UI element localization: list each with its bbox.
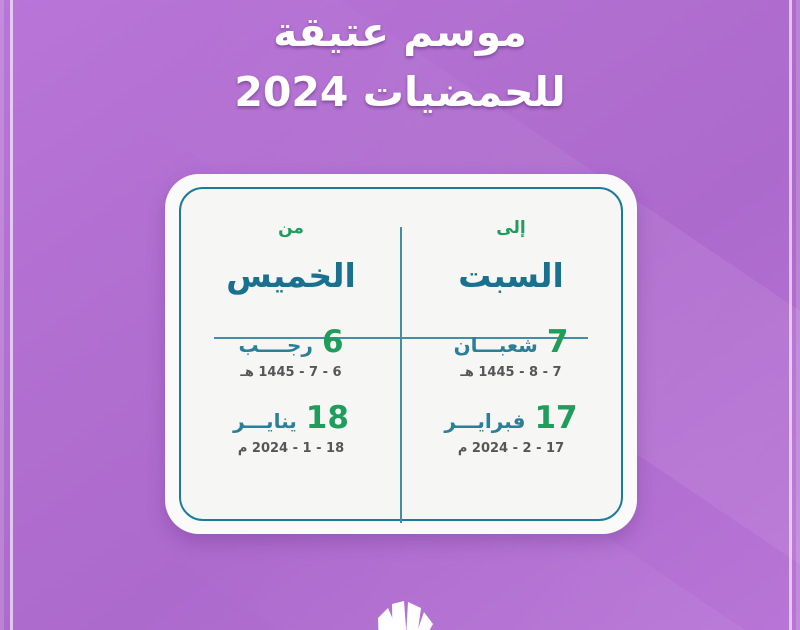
date-columns: من الخميس 6 رجــــب 6 - 7 - 1445 هـ 18 ي…: [181, 189, 621, 519]
page-title: موسم عتيقة للحمضيات 2024: [0, 0, 800, 122]
fan-petals-logo-icon: [348, 584, 452, 630]
hijri-date-main-to: 7 شعبـــان: [401, 325, 621, 360]
hijri-month-name-to: شعبـــان: [454, 330, 538, 360]
gregorian-month-name-to: فبرايـــر: [444, 406, 525, 436]
column-label-from: من: [181, 217, 401, 241]
gregorian-month-name-from: ينايـــر: [233, 406, 297, 436]
date-range-card-inner: من الخميس 6 رجــــب 6 - 7 - 1445 هـ 18 ي…: [179, 187, 623, 521]
gregorian-day-number-to: 17: [534, 401, 577, 435]
hijri-date-to: 7 شعبـــان 7 - 8 - 1445 هـ: [401, 303, 621, 383]
title-line-2: للحمضيات 2024: [0, 62, 800, 122]
hijri-numeric-from: 6 - 7 - 1445 هـ: [181, 363, 401, 383]
gregorian-day-number-from: 18: [306, 401, 349, 435]
gregorian-date-main-from: 18 ينايـــر: [181, 401, 401, 436]
hijri-month-name-from: رجــــب: [238, 330, 312, 360]
gregorian-date-to: 17 فبرايـــر 17 - 2 - 2024 م: [401, 383, 621, 459]
gregorian-numeric-from: 18 - 1 - 2024 م: [181, 439, 401, 459]
hijri-date-main-from: 6 رجــــب: [181, 325, 401, 360]
date-column-from: من الخميس 6 رجــــب 6 - 7 - 1445 هـ 18 ي…: [181, 189, 401, 519]
date-column-to: إلى السبت 7 شعبـــان 7 - 8 - 1445 هـ 17 …: [401, 189, 621, 519]
hijri-date-from: 6 رجــــب 6 - 7 - 1445 هـ: [181, 303, 401, 383]
gregorian-date-from: 18 ينايـــر 18 - 1 - 2024 م: [181, 383, 401, 459]
column-label-to: إلى: [401, 217, 621, 241]
gregorian-date-main-to: 17 فبرايـــر: [401, 401, 621, 436]
hijri-day-number-to: 7: [547, 325, 569, 359]
column-day-name-to: السبت: [401, 253, 621, 303]
hijri-numeric-to: 7 - 8 - 1445 هـ: [401, 363, 621, 383]
date-range-card: من الخميس 6 رجــــب 6 - 7 - 1445 هـ 18 ي…: [165, 174, 637, 534]
column-day-name-from: الخميس: [181, 253, 401, 303]
title-line-1: موسم عتيقة: [0, 2, 800, 62]
poster-canvas: موسم عتيقة للحمضيات 2024 من الخميس 6 رجـ…: [0, 0, 800, 630]
hijri-day-number-from: 6: [322, 325, 344, 359]
gregorian-numeric-to: 17 - 2 - 2024 م: [401, 439, 621, 459]
